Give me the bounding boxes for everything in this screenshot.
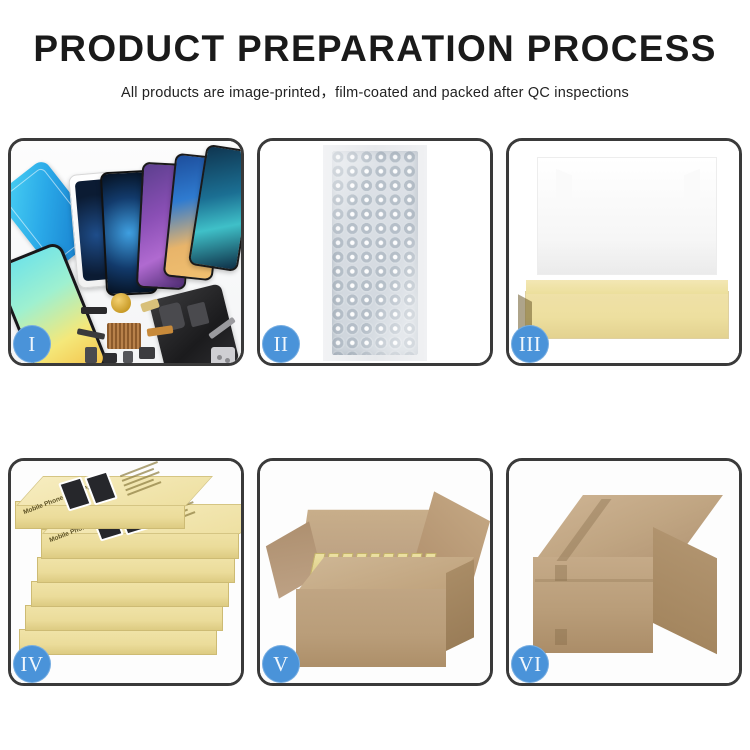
- bubble-wrap-icon: [332, 151, 418, 355]
- part-chip-icon: [103, 353, 117, 363]
- stacked-box-5: [19, 629, 217, 655]
- tray-lip: [526, 280, 728, 294]
- stacked-box-2: [37, 557, 235, 583]
- screws-icon: [217, 355, 222, 360]
- page-title: PRODUCT PREPARATION PROCESS: [0, 30, 750, 67]
- sealed-carton-side: [653, 527, 717, 654]
- box-lid-icon: [537, 157, 717, 275]
- sealed-carton-front: [533, 557, 653, 653]
- carton-seam-line: [535, 579, 653, 582]
- step-badge-5: V: [262, 645, 300, 683]
- part-connector-icon: [81, 307, 107, 314]
- part-speaker-coil-icon: [111, 293, 131, 313]
- part-logic-board-icon: [107, 323, 141, 349]
- carton-front-panel: [296, 589, 446, 667]
- screwdriver-icon: [211, 347, 235, 363]
- stacked-box-4: [25, 605, 223, 631]
- step-panel-4: Mobile Phone Spare Parts Mobile Phone Sp…: [8, 458, 244, 686]
- carton-side-panel: [446, 559, 474, 651]
- step-panel-5: V: [257, 458, 493, 686]
- step-panel-1: I: [8, 138, 244, 366]
- lid-flap-left: [556, 169, 572, 209]
- step-badge-6: VI: [511, 645, 549, 683]
- step-badge-3: III: [511, 325, 549, 363]
- step-panel-6: VI: [506, 458, 742, 686]
- box-stack: Mobile Phone Spare Parts Mobile Phone Sp…: [11, 479, 241, 679]
- step-panel-2: II: [257, 138, 493, 366]
- step-badge-1: I: [13, 325, 51, 363]
- step-badge-4: IV: [13, 645, 51, 683]
- lid-flap-right: [684, 169, 700, 209]
- page-subtitle: All products are image-printed，film-coat…: [0, 81, 750, 102]
- step-panel-3: III: [506, 138, 742, 366]
- part-camera-icon: [85, 347, 97, 363]
- steps-grid: I II: [8, 138, 742, 686]
- carton-tape-upper: [555, 565, 567, 581]
- carton-tape-lower: [555, 629, 567, 645]
- box-tray-icon: [525, 291, 729, 339]
- header: PRODUCT PREPARATION PROCESS All products…: [0, 0, 750, 102]
- part-sensor-icon: [139, 347, 155, 359]
- part-button-icon: [123, 351, 133, 363]
- product-preparation-infographic: PRODUCT PREPARATION PROCESS All products…: [0, 0, 750, 750]
- stacked-box-3: [31, 581, 229, 607]
- step-badge-2: II: [262, 325, 300, 363]
